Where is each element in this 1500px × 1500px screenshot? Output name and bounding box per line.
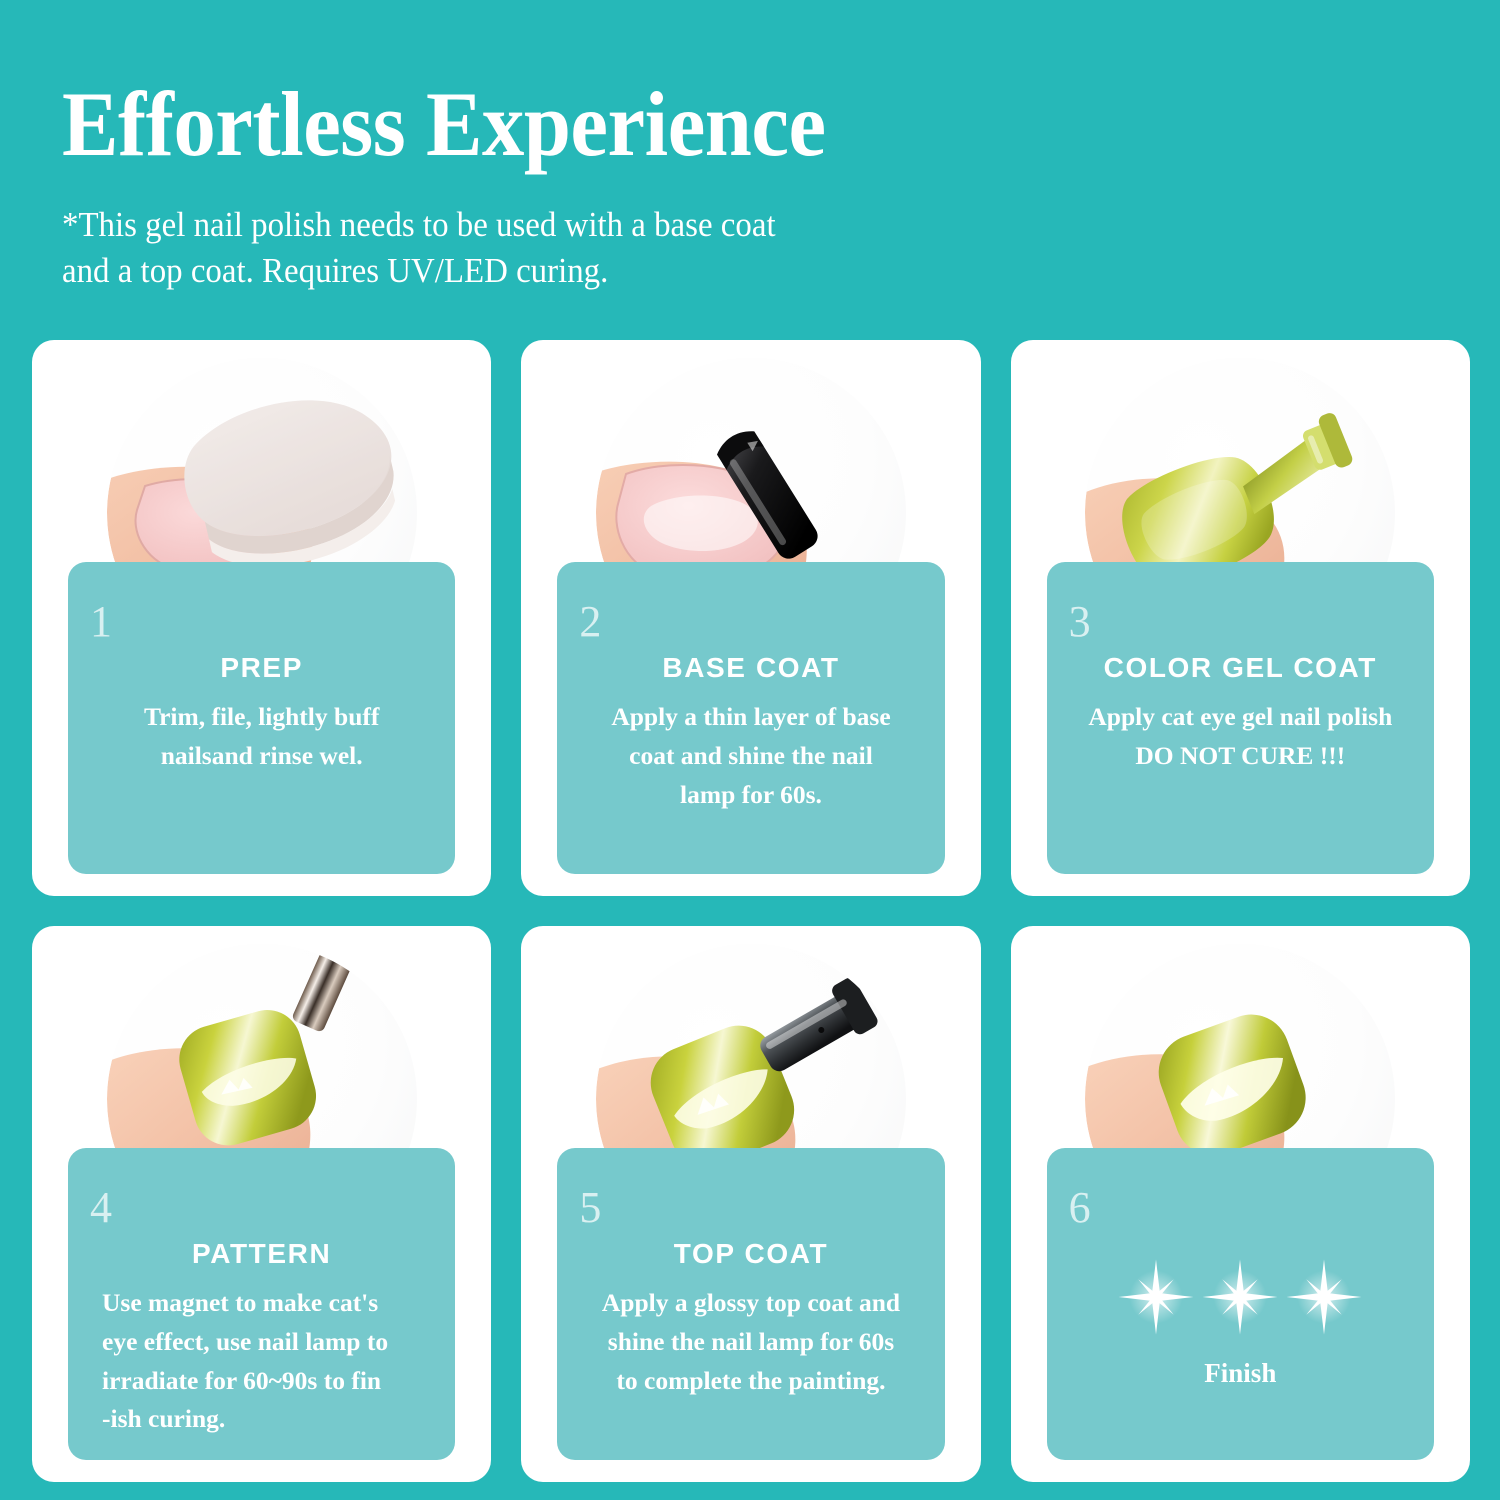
finish-label: Finish [1065,1358,1416,1389]
step-description: Apply a glossy top coat and shine the na… [575,1284,926,1400]
step-number: 4 [90,1186,112,1230]
step-panel-3: 3 COLOR GEL COAT Apply cat eye gel nail … [1047,562,1434,874]
header: Effortless Experience *This gel nail pol… [62,78,1262,294]
step-body: PREP Trim, file, lightly buff nailsand r… [86,652,437,776]
step-description: Apply a thin layer of base coat and shin… [575,698,926,814]
infographic-page: Effortless Experience *This gel nail pol… [0,0,1500,1500]
sparkle-icon [1117,1258,1195,1336]
step-panel-1: 1 PREP Trim, file, lightly buff nailsand… [68,562,455,874]
step-card-3: 3 COLOR GEL COAT Apply cat eye gel nail … [1011,340,1470,896]
step-description: Apply cat eye gel nail polish DO NOT CUR… [1065,698,1416,776]
step-body: Finish [1065,1238,1416,1389]
step-number: 5 [579,1186,601,1230]
step-panel-6: 6 [1047,1148,1434,1460]
step-card-2: 2 BASE COAT Apply a thin layer of base c… [521,340,980,896]
step-number: 1 [90,600,112,644]
step-title: COLOR GEL COAT [1065,652,1416,684]
sparkle-icon [1285,1258,1363,1336]
step-description: Use magnet to make cat's eye effect, use… [86,1284,437,1439]
sparkle-icon [1201,1258,1279,1336]
step-body: BASE COAT Apply a thin layer of base coa… [575,652,926,814]
step-title: PREP [86,652,437,684]
step-card-5: 5 TOP COAT Apply a glossy top coat and s… [521,926,980,1482]
step-body: TOP COAT Apply a glossy top coat and shi… [575,1238,926,1400]
step-panel-4: 4 PATTERN Use magnet to make cat's eye e… [68,1148,455,1460]
page-subtitle: *This gel nail polish needs to be used w… [62,202,1190,294]
step-body: COLOR GEL COAT Apply cat eye gel nail po… [1065,652,1416,776]
page-title: Effortless Experience [62,78,1166,170]
step-description: Trim, file, lightly buff nailsand rinse … [86,698,437,776]
step-card-4: 4 PATTERN Use magnet to make cat's eye e… [32,926,491,1482]
step-number: 3 [1069,600,1091,644]
step-number: 2 [579,600,601,644]
step-card-6: 6 [1011,926,1470,1482]
steps-grid: 1 PREP Trim, file, lightly buff nailsand… [32,340,1470,1482]
step-title: PATTERN [86,1238,437,1270]
step-number: 6 [1069,1186,1091,1230]
step-panel-2: 2 BASE COAT Apply a thin layer of base c… [557,562,944,874]
step-title: BASE COAT [575,652,926,684]
step-body: PATTERN Use magnet to make cat's eye eff… [86,1238,437,1439]
step-panel-5: 5 TOP COAT Apply a glossy top coat and s… [557,1148,944,1460]
sparkles-group [1065,1254,1416,1340]
step-card-1: 1 PREP Trim, file, lightly buff nailsand… [32,340,491,896]
step-title: TOP COAT [575,1238,926,1270]
